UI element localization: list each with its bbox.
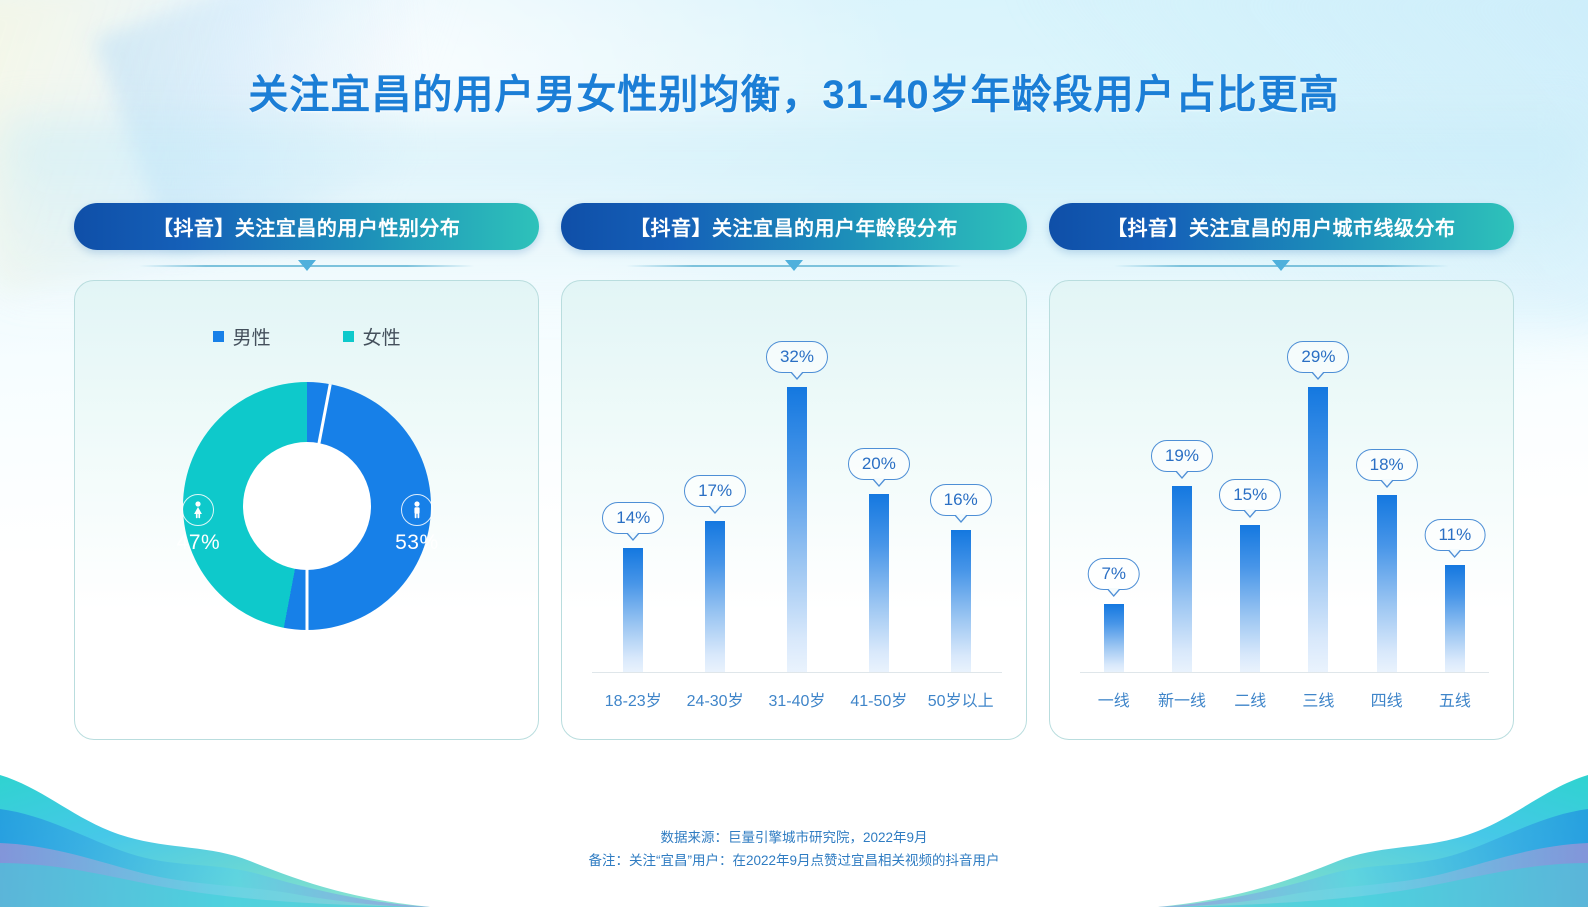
chevron-down-icon xyxy=(298,260,316,271)
bar xyxy=(951,530,971,673)
bar-column: 32% xyxy=(756,305,838,673)
panel-connector-city xyxy=(1049,250,1514,280)
legend-swatch-female xyxy=(343,331,354,342)
donut-center-hole xyxy=(243,442,371,570)
legend-swatch-male xyxy=(213,331,224,342)
bar-value-callout: 7% xyxy=(1087,558,1140,590)
bar-chart-age: 14%17%32%20%16% 18-23岁24-30岁31-40岁41-50岁… xyxy=(562,281,1025,739)
bar-value-callout: 15% xyxy=(1219,479,1281,511)
legend-label-female: 女性 xyxy=(363,323,401,350)
legend-label-male: 男性 xyxy=(233,323,271,350)
bar-column: 17% xyxy=(674,305,756,673)
footer-notes: 数据来源：巨量引擎城市研究院，2022年9月 备注：关注“宜昌”用户：在2022… xyxy=(0,826,1588,873)
donut-label-female: 47% xyxy=(177,494,221,555)
plot-area-city: 7%19%15%29%18%11% xyxy=(1080,305,1489,673)
donut-chart: 53% 47% xyxy=(183,382,431,630)
legend-item-female: 女性 xyxy=(343,323,401,350)
panel-header-gender: 【抖音】关注宜昌的用户性别分布 xyxy=(74,203,539,250)
bar-value-callout: 20% xyxy=(848,448,910,480)
bar-value-callout: 14% xyxy=(602,502,664,534)
male-person-icon xyxy=(401,494,433,526)
panel-connector-age xyxy=(561,250,1026,280)
x-axis-label: 一线 xyxy=(1080,687,1148,711)
card-city: 7%19%15%29%18%11% 一线新一线二线三线四线五线 xyxy=(1049,280,1514,740)
axis-baseline-city xyxy=(1080,672,1489,673)
x-axis-label: 18-23岁 xyxy=(592,687,674,711)
bar xyxy=(1172,486,1192,673)
bar-value-callout: 32% xyxy=(766,341,828,373)
panel-header-city: 【抖音】关注宜昌的用户城市线级分布 xyxy=(1049,203,1514,250)
x-axis-label: 新一线 xyxy=(1148,687,1216,711)
x-axis-label: 二线 xyxy=(1216,687,1284,711)
x-axis-label: 四线 xyxy=(1353,687,1421,711)
bar-column: 14% xyxy=(592,305,674,673)
chevron-down-icon xyxy=(785,260,803,271)
bar xyxy=(705,521,725,673)
bar xyxy=(1445,565,1465,673)
panel-header-age: 【抖音】关注宜昌的用户年龄段分布 xyxy=(561,203,1026,250)
bar xyxy=(1377,495,1397,673)
male-percent: 53% xyxy=(395,531,439,555)
bar-column: 16% xyxy=(920,305,1002,673)
bar-column: 19% xyxy=(1148,305,1216,673)
panel-gender: 【抖音】关注宜昌的用户性别分布 男性 女性 xyxy=(74,203,539,740)
panel-connector-gender xyxy=(74,250,539,280)
bar xyxy=(623,548,643,673)
x-axis-label: 50岁以上 xyxy=(920,687,1002,711)
donut-legend: 男性 女性 xyxy=(75,323,538,350)
bar-column: 15% xyxy=(1216,305,1284,673)
bar-column: 7% xyxy=(1080,305,1148,673)
bar xyxy=(869,494,889,673)
page-title: 关注宜昌的用户男女性别均衡，31-40岁年龄段用户占比更高 xyxy=(0,62,1588,120)
bar-value-callout: 11% xyxy=(1424,519,1485,551)
axis-baseline-age xyxy=(592,672,1001,673)
bar-column: 18% xyxy=(1353,305,1421,673)
bar-column: 11% xyxy=(1421,305,1489,673)
bar-chart-city: 7%19%15%29%18%11% 一线新一线二线三线四线五线 xyxy=(1050,281,1513,739)
panel-city: 【抖音】关注宜昌的用户城市线级分布 7%19%15%29%18%11% 一线新一… xyxy=(1049,203,1514,740)
bar-value-callout: 19% xyxy=(1151,440,1213,472)
footer-data-source: 数据来源：巨量引擎城市研究院，2022年9月 xyxy=(0,826,1588,850)
bar xyxy=(1308,387,1328,673)
x-axis-label: 三线 xyxy=(1284,687,1352,711)
female-person-icon xyxy=(182,494,214,526)
legend-item-male: 男性 xyxy=(213,323,271,350)
bar xyxy=(1104,604,1124,673)
bar xyxy=(1240,525,1260,673)
chevron-down-icon xyxy=(1272,260,1290,271)
x-axis-label: 五线 xyxy=(1421,687,1489,711)
x-axis-labels-age: 18-23岁24-30岁31-40岁41-50岁50岁以上 xyxy=(592,687,1001,711)
x-axis-label: 41-50岁 xyxy=(838,687,920,711)
bar-column: 20% xyxy=(838,305,920,673)
bar-column: 29% xyxy=(1284,305,1352,673)
card-gender: 男性 女性 xyxy=(74,280,539,740)
footer-remark: 备注：关注“宜昌”用户：在2022年9月点赞过宜昌相关视频的抖音用户 xyxy=(0,849,1588,873)
panel-row: 【抖音】关注宜昌的用户性别分布 男性 女性 xyxy=(74,203,1514,740)
x-axis-labels-city: 一线新一线二线三线四线五线 xyxy=(1080,687,1489,711)
bar-value-callout: 17% xyxy=(684,475,746,507)
x-axis-label: 24-30岁 xyxy=(674,687,756,711)
bar-value-callout: 29% xyxy=(1287,341,1349,373)
panel-age: 【抖音】关注宜昌的用户年龄段分布 14%17%32%20%16% 18-23岁2… xyxy=(561,203,1026,740)
bar xyxy=(787,387,807,673)
bar-value-callout: 16% xyxy=(930,484,992,516)
x-axis-label: 31-40岁 xyxy=(756,687,838,711)
plot-area-age: 14%17%32%20%16% xyxy=(592,305,1001,673)
female-percent: 47% xyxy=(177,531,221,555)
bar-value-callout: 18% xyxy=(1356,449,1418,481)
card-age: 14%17%32%20%16% 18-23岁24-30岁31-40岁41-50岁… xyxy=(561,280,1026,740)
donut-label-male: 53% xyxy=(395,494,439,555)
